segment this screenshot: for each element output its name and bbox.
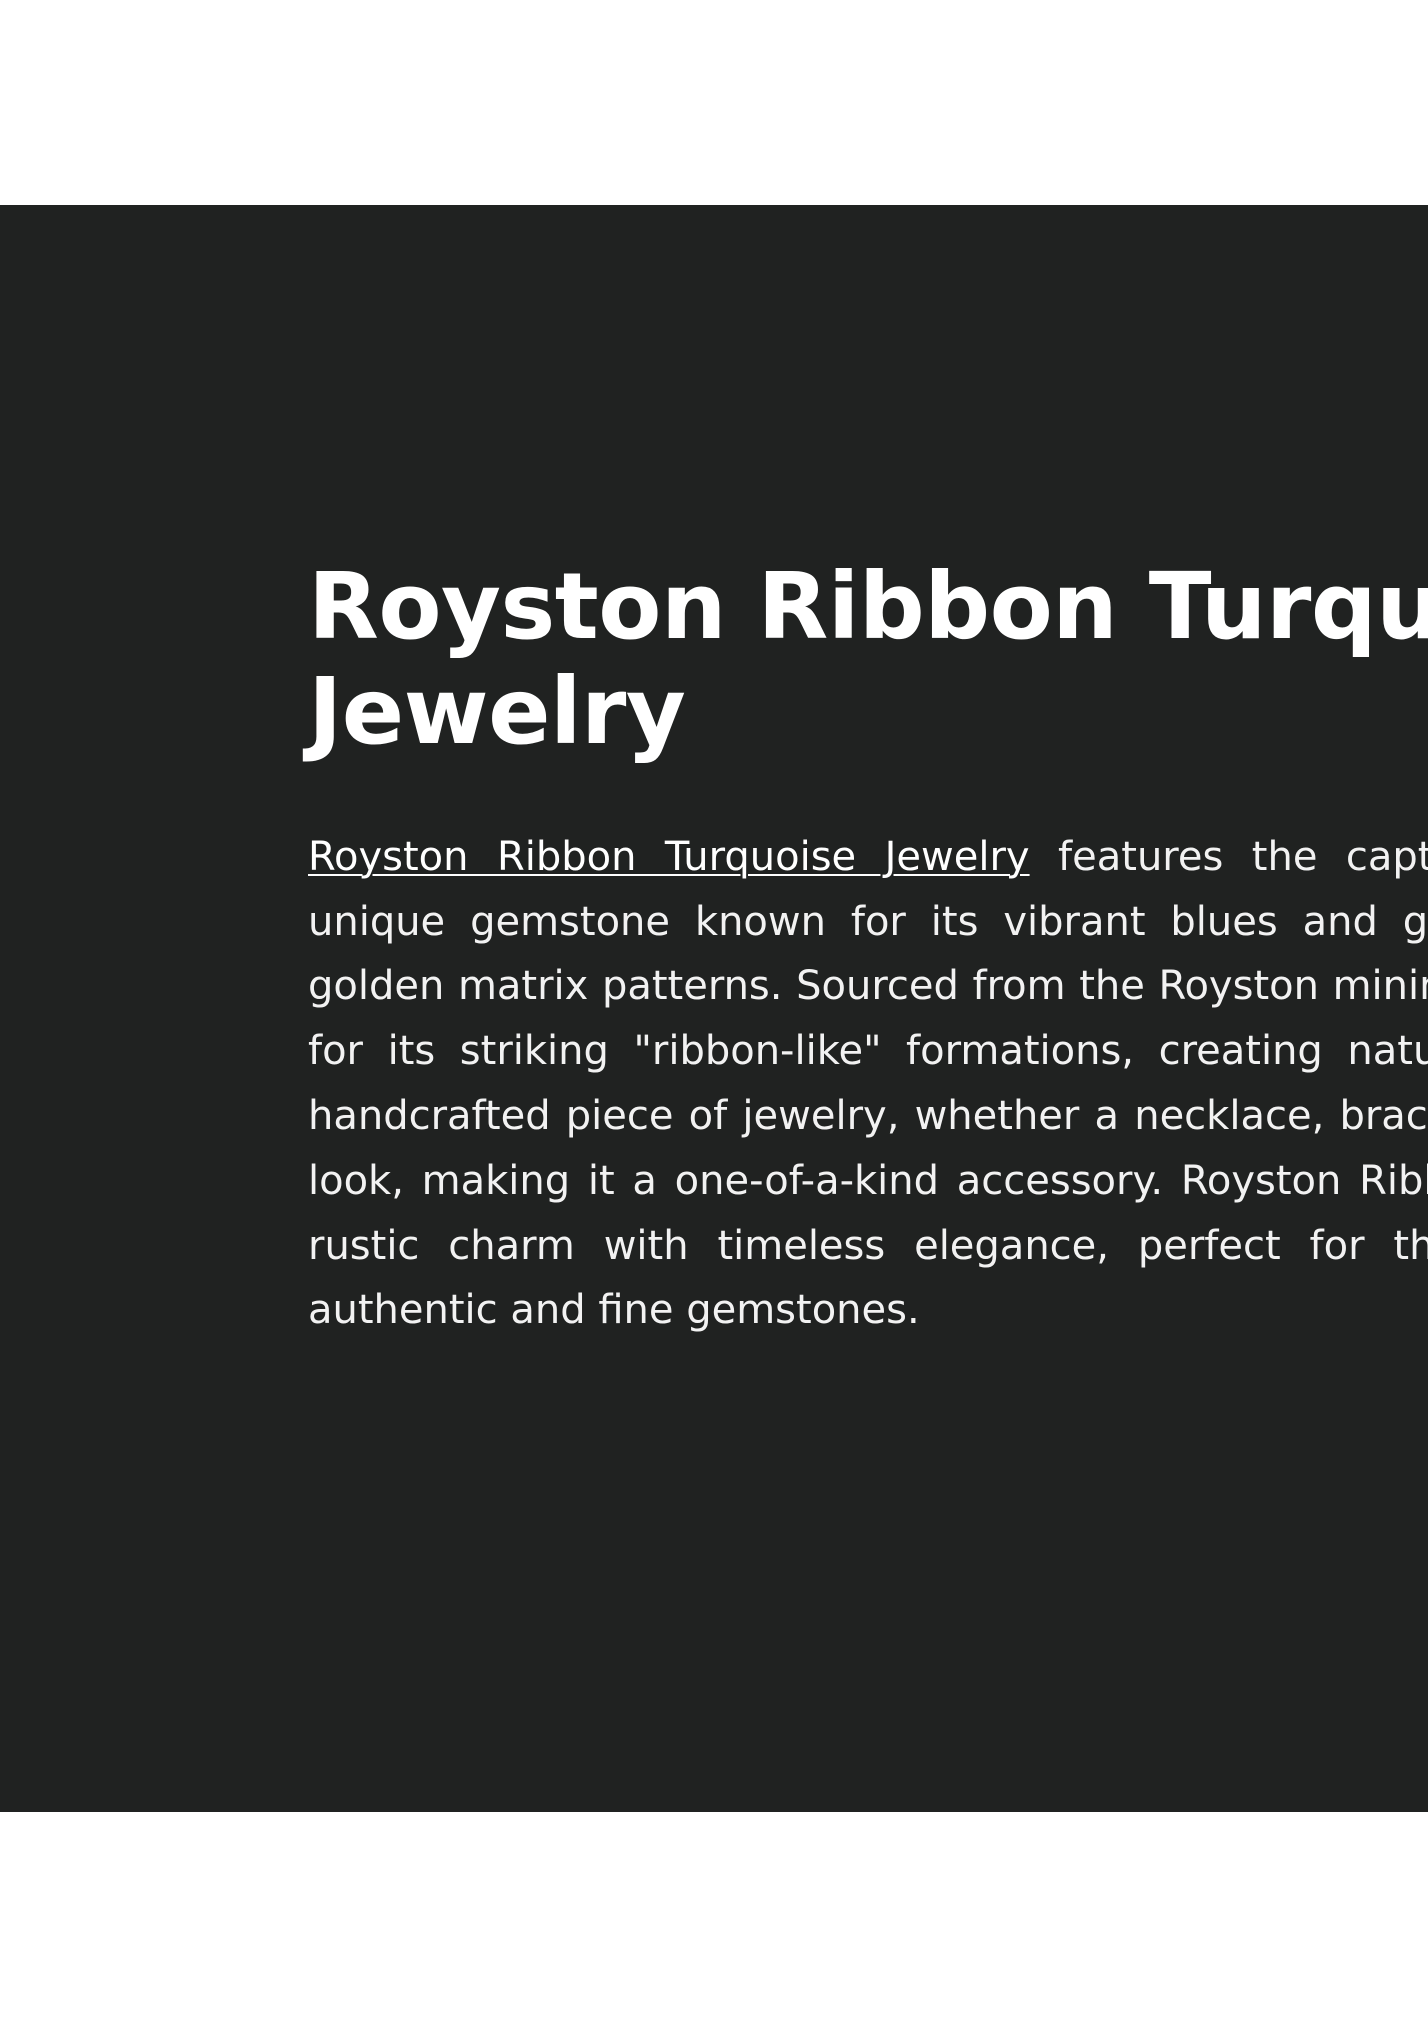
- hero-description-text: features the captivating beauty of a uni…: [308, 834, 1428, 1334]
- royston-ribbon-turquoise-jewelry-link[interactable]: Royston Ribbon Turquoise Jewelry: [308, 834, 1030, 880]
- page-root: Royston Ribbon Turquoise Jewelry Royston…: [0, 0, 1428, 2018]
- hero-content: Royston Ribbon Turquoise Jewelry Royston…: [308, 555, 1428, 1343]
- page-title: Royston Ribbon Turquoise Jewelry: [308, 555, 1428, 765]
- hero-description: Royston Ribbon Turquoise Jewelry feature…: [308, 825, 1428, 1343]
- hero-panel: Royston Ribbon Turquoise Jewelry Royston…: [0, 205, 1428, 1812]
